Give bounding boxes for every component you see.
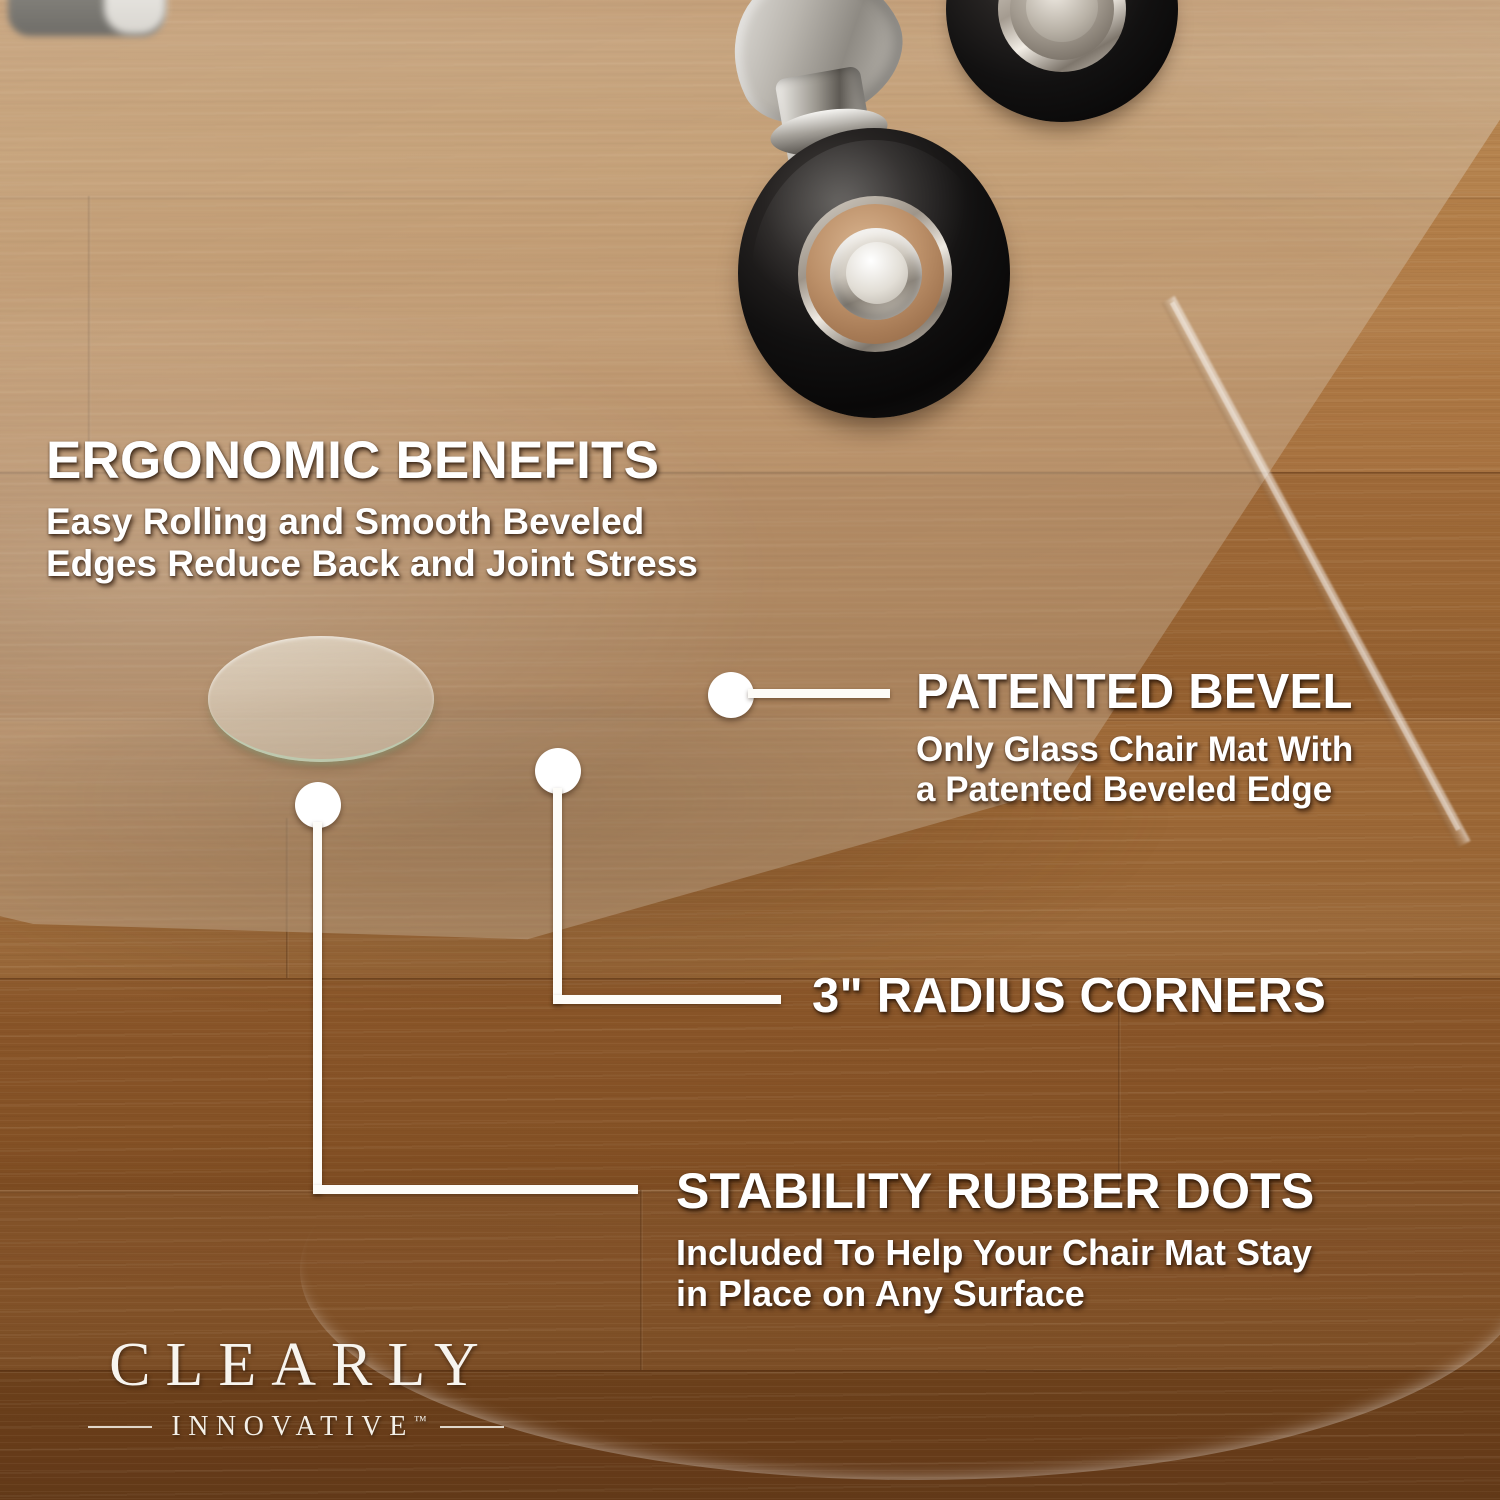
logo-rule-right xyxy=(440,1426,504,1428)
callout-subtitle-line: Easy Rolling and Smooth Beveled xyxy=(46,501,698,543)
callout-subtitle: Only Glass Chair Mat With a Patented Bev… xyxy=(916,730,1353,810)
callout-patented-bevel: PATENTED BEVEL Only Glass Chair Mat With… xyxy=(916,668,1353,810)
leader-line-rubber-dots-vertical xyxy=(313,822,322,1194)
callout-ergonomic-benefits: ERGONOMIC BENEFITS Easy Rolling and Smoo… xyxy=(46,434,698,585)
brand-tagline-row: INNOVATIVE™ xyxy=(84,1411,504,1443)
callout-subtitle-line: Only Glass Chair Mat With xyxy=(916,730,1353,770)
callout-radius-corners: 3" RADIUS CORNERS xyxy=(812,972,1326,1021)
callout-subtitle-line: in Place on Any Surface xyxy=(676,1273,1314,1314)
callout-title: ERGONOMIC BENEFITS xyxy=(46,434,698,487)
leader-line-radius-corners-vertical xyxy=(553,788,562,1004)
caster-wheel xyxy=(712,0,1032,480)
stability-rubber-dot-rim xyxy=(208,636,434,762)
leader-line-rubber-dots-horizontal xyxy=(313,1185,638,1194)
logo-rule-left xyxy=(88,1426,152,1428)
callout-title: PATENTED BEVEL xyxy=(916,668,1353,717)
callout-title: STABILITY RUBBER DOTS xyxy=(676,1166,1314,1216)
callout-subtitle-line: a Patented Beveled Edge xyxy=(916,770,1353,810)
callout-subtitle: Included To Help Your Chair Mat Stay in … xyxy=(676,1232,1314,1314)
wheel-hub-core xyxy=(846,242,908,304)
callout-subtitle-line: Included To Help Your Chair Mat Stay xyxy=(676,1232,1314,1273)
leader-line-radius-corners-horizontal xyxy=(553,995,781,1004)
leader-line-patented-bevel xyxy=(748,689,890,698)
brand-logo: CLEARLY INNOVATIVE™ xyxy=(84,1330,504,1443)
callout-subtitle: Easy Rolling and Smooth Beveled Edges Re… xyxy=(46,501,698,585)
product-infographic: ERGONOMIC BENEFITS Easy Rolling and Smoo… xyxy=(0,0,1500,1500)
callout-subtitle-line: Edges Reduce Back and Joint Stress xyxy=(46,543,698,585)
brand-name: CLEARLY xyxy=(84,1330,504,1401)
callout-stability-rubber-dots: STABILITY RUBBER DOTS Included To Help Y… xyxy=(676,1166,1314,1314)
brand-tagline-text: INNOVATIVE xyxy=(171,1411,413,1442)
brand-tagline: INNOVATIVE™ xyxy=(165,1411,426,1443)
callout-title: 3" RADIUS CORNERS xyxy=(812,972,1326,1021)
trademark-symbol: ™ xyxy=(414,1413,427,1428)
